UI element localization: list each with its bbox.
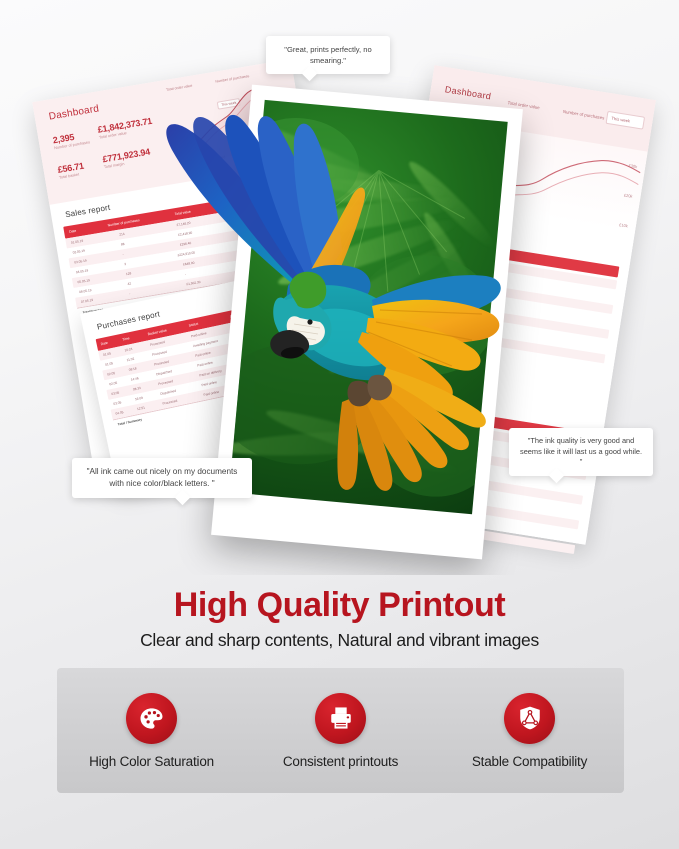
cell-purchases: 3 xyxy=(124,262,126,266)
feature-strip: High Color Saturation Consistent printou… xyxy=(57,668,624,793)
cell-purchases: - xyxy=(129,292,131,296)
back-range-selector-label: This week xyxy=(611,116,630,124)
cell-purchases: 88 xyxy=(121,242,125,247)
cell-time: 08:33 xyxy=(133,386,142,392)
cell-total-label: Total / Summary xyxy=(117,418,142,427)
cell-value: £2,418.90 xyxy=(178,231,193,237)
feature-label: High Color Saturation xyxy=(57,754,246,769)
testimonial-bubble-top: "Great, prints perfectly, no smearing." xyxy=(266,36,390,74)
chart-tick-4: Thu xyxy=(235,150,242,155)
cell-value: £7,146.20 xyxy=(176,221,191,227)
cell-date: 02.05.19 xyxy=(72,249,85,255)
product-marketing-image: Dashboard Total order value Number of pu… xyxy=(0,0,679,849)
cell-time: 10:24 xyxy=(124,347,133,353)
chart-tick-2: Tue xyxy=(200,160,207,165)
cell-basket: Processed xyxy=(162,399,178,406)
chart-tick-3: Wed xyxy=(218,155,226,160)
cell-date: 01.05 xyxy=(105,361,114,367)
cell-time: 14:46 xyxy=(130,376,139,382)
cell-basket: Processed xyxy=(152,350,168,357)
cell-value: £224,910.00 xyxy=(177,251,195,258)
cell-date: 06.05.19 xyxy=(79,288,92,294)
cell-date: 04.05 xyxy=(115,410,124,416)
cell-value: £1,502.30 xyxy=(186,280,201,286)
col-time: Time xyxy=(122,336,130,341)
printer-icon xyxy=(315,693,366,744)
shield-compatibility-icon xyxy=(504,693,555,744)
cell-time: 09:18 xyxy=(128,367,137,373)
feature-stable-compatibility[interactable]: Stable Compatibility xyxy=(435,693,624,769)
feature-high-color-saturation[interactable]: High Color Saturation xyxy=(57,693,246,769)
cell-date: 01.05.19 xyxy=(71,239,84,245)
photo-macaw-jungle xyxy=(229,100,508,514)
cell-purchases: 42 xyxy=(127,282,131,287)
cell-time: 12:51 xyxy=(137,406,146,412)
col-basket: Basket value xyxy=(147,328,167,336)
cell-date: 01.05 xyxy=(103,352,112,358)
cell-date: 07.05.19 xyxy=(81,298,94,304)
feature-label: Stable Compatibility xyxy=(435,754,624,769)
page-subheadline: Clear and sharp contents, Natural and vi… xyxy=(0,630,679,651)
testimonial-bubble-right: "The ink quality is very good and seems … xyxy=(509,428,653,476)
cell-value: £296.40 xyxy=(180,241,192,247)
cell-date: 03.05.19 xyxy=(74,259,87,265)
cell-value: - xyxy=(184,272,186,276)
cell-date: 03.05 xyxy=(113,401,122,407)
cell-purchases: 128 xyxy=(126,271,132,276)
cell-basket: Processed xyxy=(154,360,170,367)
testimonial-bubble-left: "All ink came out nicely on my documents… xyxy=(72,458,252,498)
cell-time: 16:09 xyxy=(135,396,144,402)
col-status: Status xyxy=(188,322,198,328)
cell-date: 05.05.19 xyxy=(77,278,90,284)
hero-composition: Dashboard Total order value Number of pu… xyxy=(0,0,679,575)
feature-consistent-printouts[interactable]: Consistent printouts xyxy=(246,693,435,769)
cell-date: 04.05.19 xyxy=(76,269,89,275)
cell-date: 03.05 xyxy=(111,391,120,397)
cell-date: 02.05 xyxy=(107,371,116,377)
cell-date: 02.05 xyxy=(109,381,118,387)
cell-purchases: - xyxy=(122,252,124,256)
chart-legend-1: Total order value xyxy=(166,84,193,92)
palette-icon xyxy=(126,693,177,744)
cell-basket: Processed xyxy=(150,340,166,347)
cell-basket: Processed xyxy=(158,379,174,386)
chart-tick-1: Mon xyxy=(183,165,191,170)
cell-time: 11:02 xyxy=(126,357,134,363)
col-margin: Margin xyxy=(230,201,241,207)
printed-photo-sheet xyxy=(211,85,523,560)
col-date: Date xyxy=(100,341,108,346)
sales-report-title: Sales report xyxy=(65,203,111,219)
cell-value: £648.90 xyxy=(183,261,195,267)
page-headline: High Quality Printout xyxy=(0,586,679,625)
col-value: Total value xyxy=(174,210,191,217)
cell-purchases: 214 xyxy=(119,232,125,237)
col-date: Date xyxy=(69,229,77,234)
feature-label: Consistent printouts xyxy=(246,754,435,769)
